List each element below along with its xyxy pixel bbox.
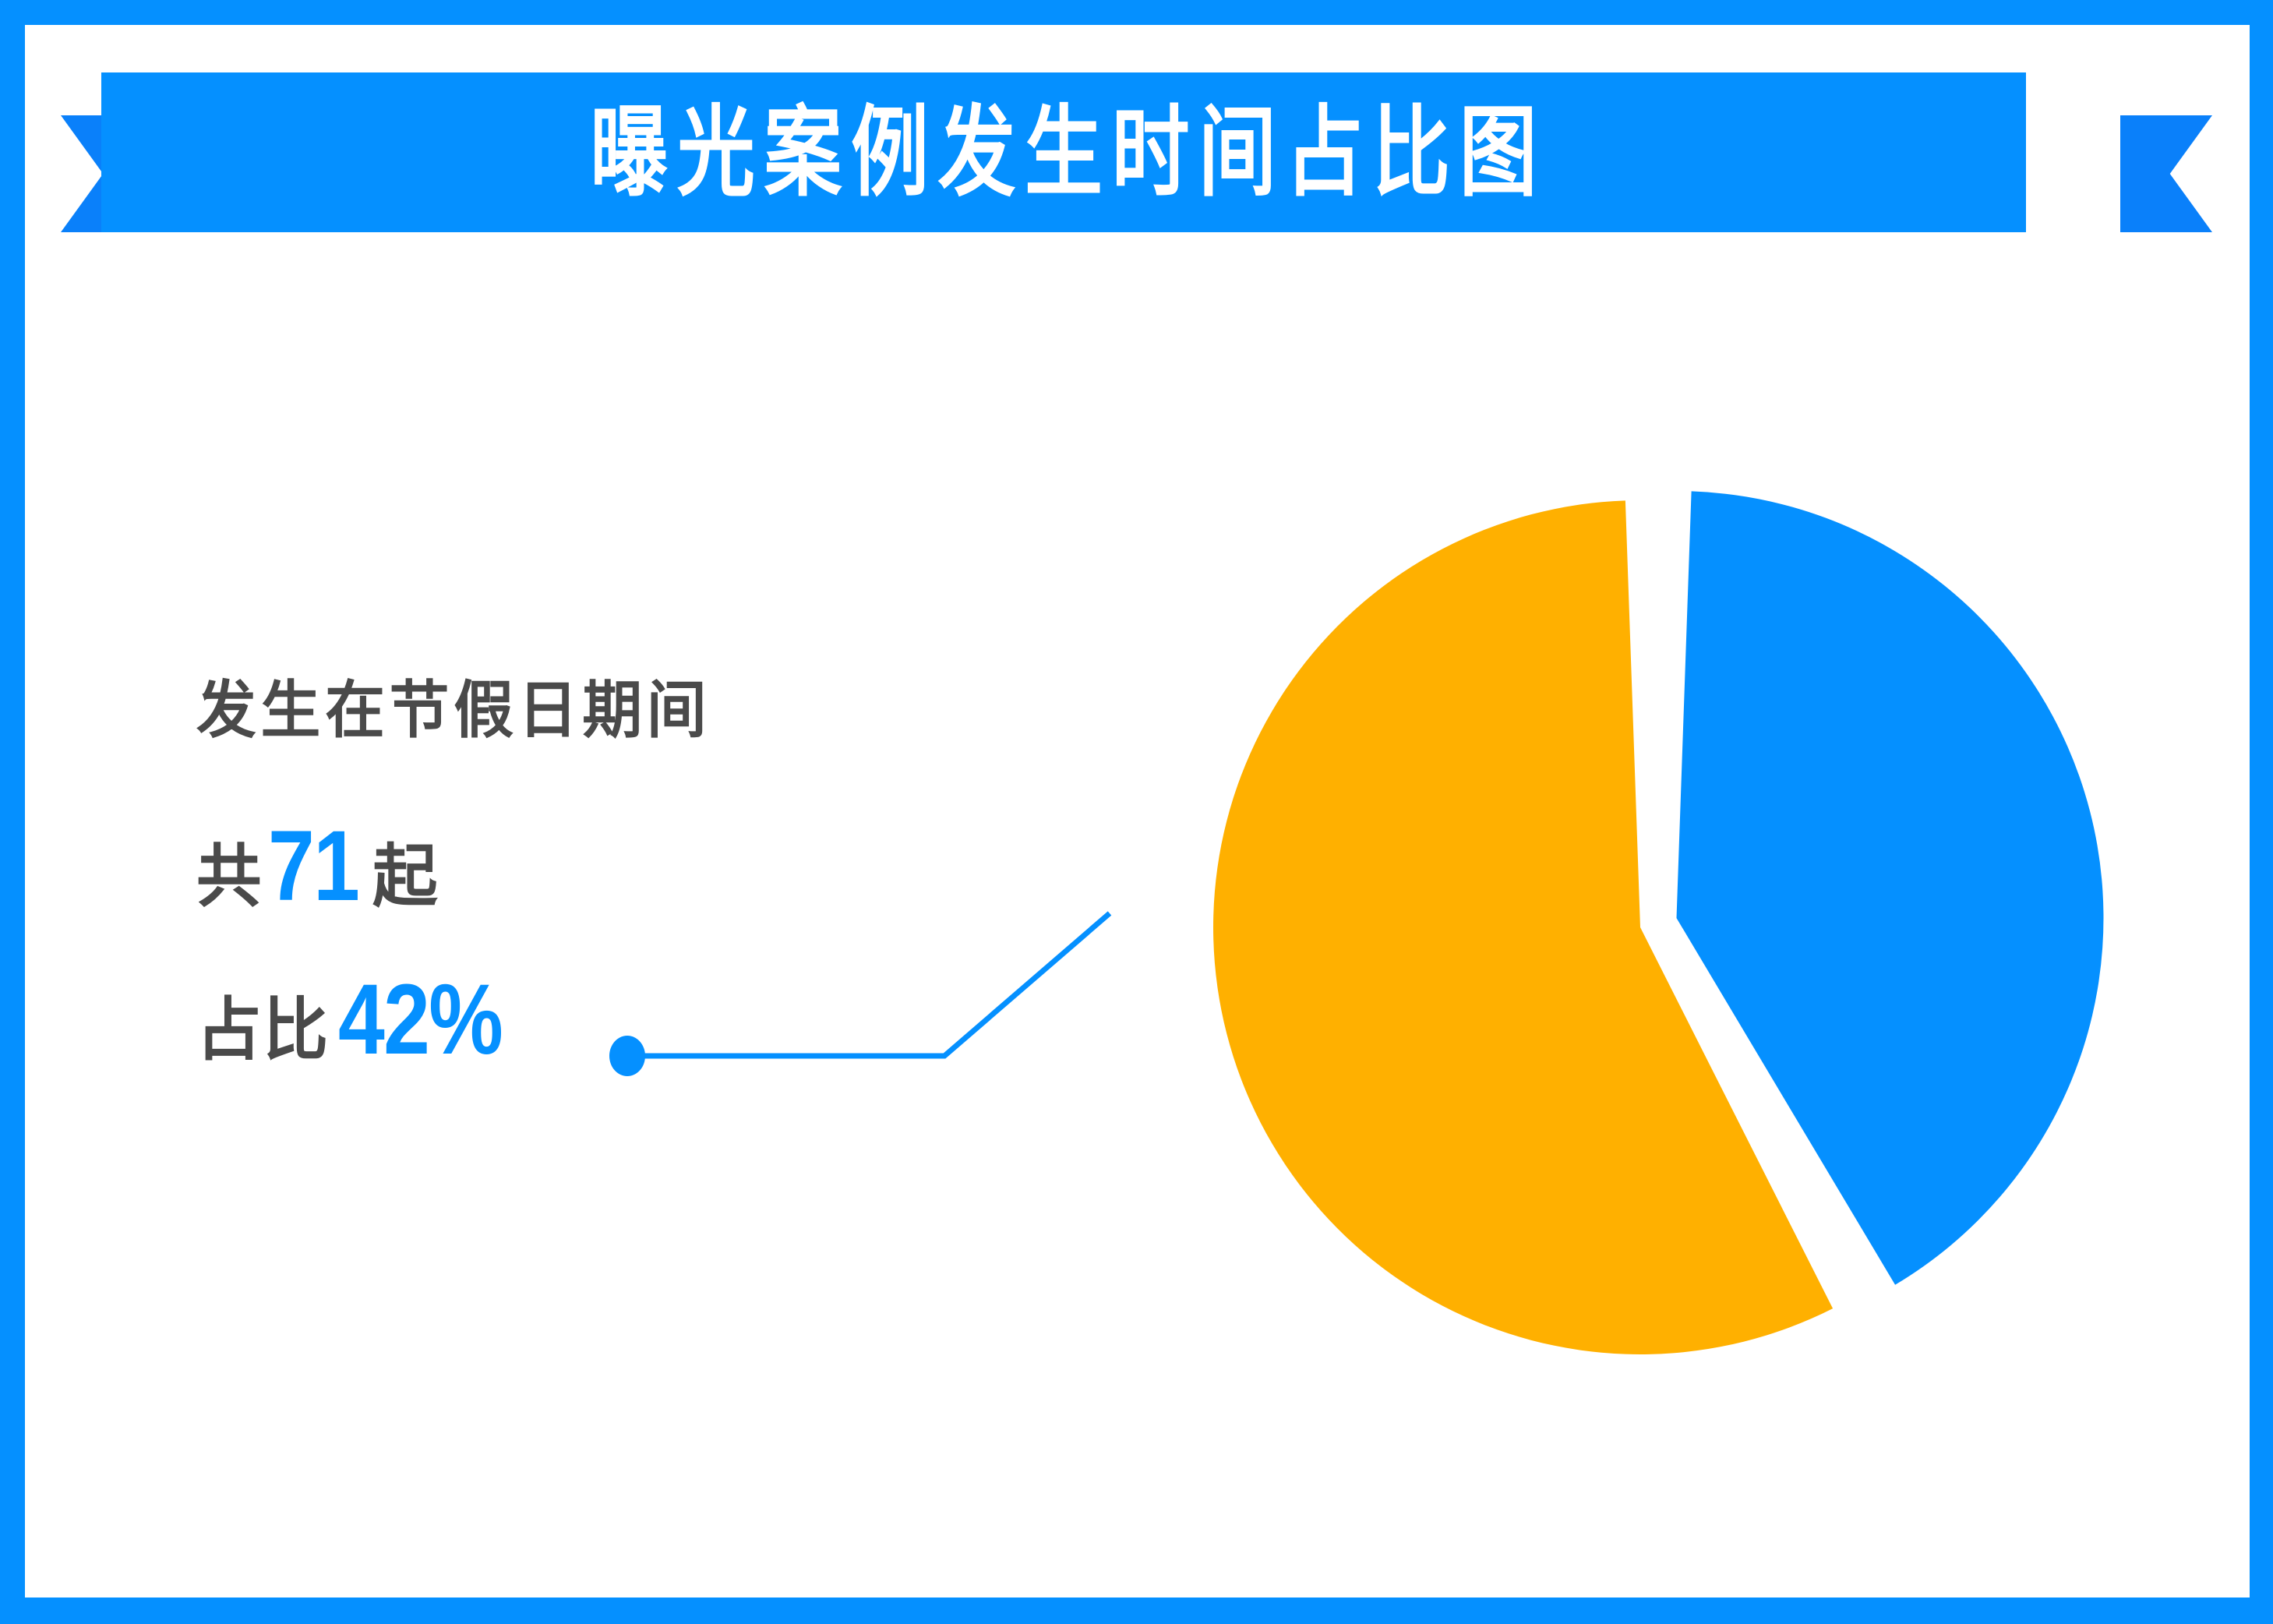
- page-title: 曝光案例发生时间占比图: [581, 103, 1546, 202]
- frame-border-bottom: [0, 1598, 2273, 1624]
- frame-border-left: [0, 0, 25, 1624]
- infographic-canvas: 曝光案例发生时间占比图 发生在节假日期间 共 71 起 占比 42%: [0, 0, 2273, 1624]
- stats-count-value: 71: [268, 809, 358, 923]
- stats-ratio-row: 占比 42%: [196, 962, 898, 1077]
- stats-ratio-value: 42%: [338, 962, 502, 1077]
- frame-border-right: [2250, 0, 2273, 1624]
- pie-chart: [1091, 405, 2104, 1434]
- stats-ratio-prefix: 占比: [196, 975, 330, 1074]
- stats-count-suffix: 起: [372, 821, 439, 920]
- ribbon-main-bar: 曝光案例发生时间占比图: [101, 72, 2026, 232]
- pie-chart-svg: [1091, 405, 2104, 1434]
- stats-headline: 发生在节假日期间: [196, 680, 870, 742]
- ribbon-tail-right-icon: [2120, 115, 2212, 232]
- title-ribbon: 曝光案例发生时间占比图: [61, 72, 2212, 232]
- stats-count-prefix: 共: [196, 821, 263, 920]
- stats-count-row: 共 71 起: [196, 809, 898, 923]
- stats-block: 发生在节假日期间 共 71 起 占比 42%: [196, 680, 898, 1116]
- frame-border-top: [0, 0, 2273, 25]
